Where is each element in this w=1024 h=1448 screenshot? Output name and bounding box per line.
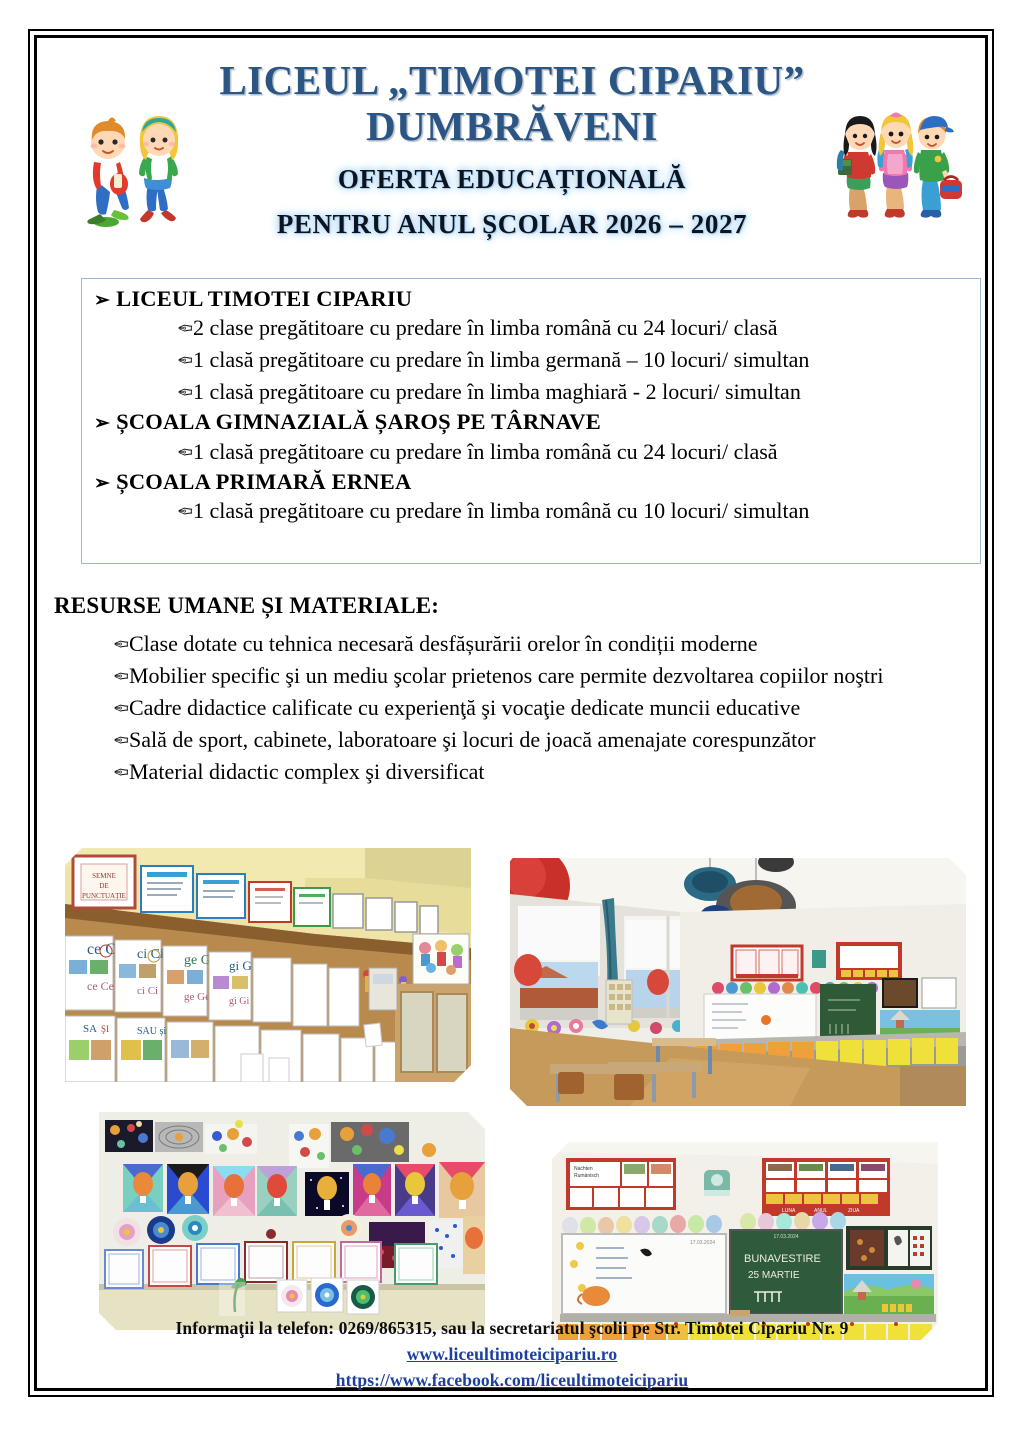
poster-header: LICEUL „TIMOTEI CIPARIU” DUMBRĂVENI OFER… (40, 40, 984, 268)
photo-whiteboard-blackboard: Nachten Rumänisch (545, 1135, 945, 1347)
class-item: ✑ 1 clasă pregătitoare cu predare în lim… (157, 376, 970, 408)
resource-item-text: Material didactic complex şi diversifica… (129, 760, 485, 783)
pen-bullet-icon: ✑ (72, 700, 129, 720)
svg-text:Nachten: Nachten (574, 1166, 593, 1172)
resources-list: ✑ Clase dotate cu tehnica necesară desfă… (72, 628, 982, 788)
footer-contact: Informaţii la telefon: 0269/865315, sau … (40, 1318, 984, 1391)
svg-text:25 MARTIE: 25 MARTIE (748, 1270, 800, 1281)
class-item-text: 1 clasă pregătitoare cu predare în limba… (193, 381, 801, 403)
photo-classroom-wall-posters: SEMNE DE PUNCTUAȚIE (58, 841, 478, 1089)
class-item-text: 1 clasă pregătitoare cu predare în limba… (193, 349, 809, 371)
class-item: ✑ 2 clase pregătitoare cu predare în lim… (157, 312, 970, 344)
class-item-text: 1 clasă pregătitoare cu predare în limba… (193, 500, 809, 522)
class-item-text: 1 clasă pregătitoare cu predare în limba… (193, 441, 778, 463)
resource-item: ✑ Cadre didactice calificate cu experien… (72, 692, 982, 724)
resource-item: ✑ Sală de sport, cabinete, laboratoare ş… (72, 724, 982, 756)
photo-student-artwork-wall (92, 1105, 492, 1337)
pen-bullet-icon: ✑ (157, 384, 193, 403)
school-heading: ➢ ȘCOALA GIMNAZIALĂ ȘAROȘ PE TÂRNAVE (94, 408, 970, 435)
svg-text:ci Ci: ci Ci (137, 985, 158, 997)
resource-item: ✑ Material didactic complex şi diversifi… (72, 756, 982, 788)
two-school-children-clipart (70, 110, 198, 228)
pen-bullet-icon: ✑ (157, 320, 193, 339)
pen-bullet-icon: ✑ (72, 668, 129, 688)
svg-text:PUNCTUAȚIE: PUNCTUAȚIE (82, 892, 126, 900)
class-item: ✑ 1 clasă pregătitoare cu predare în lim… (157, 495, 970, 527)
arrow-bullet-icon: ➢ (94, 474, 110, 493)
school-heading: ➢ ȘCOALA PRIMARĂ ERNEA (94, 468, 970, 495)
offer-box: ➢ LICEUL TIMOTEI CIPARIU ✑ 2 clase pregă… (81, 278, 981, 564)
resource-item-text: Cadre didactice calificate cu experienţă… (129, 696, 800, 719)
svg-text:SA: SA (83, 1023, 97, 1035)
resource-item-text: Mobilier specific şi un mediu şcolar pri… (129, 664, 883, 687)
resource-item-text: Clase dotate cu tehnica necesară desfășu… (129, 632, 758, 655)
class-item: ✑ 1 clasă pregătitoare cu predare în lim… (157, 436, 970, 468)
class-item: ✑ 1 clasă pregătitoare cu predare în lim… (157, 344, 970, 376)
svg-text:DE: DE (99, 882, 108, 890)
resources-title: RESURSE UMANE ȘI MATERIALE: (54, 593, 439, 619)
svg-text:gi Gi: gi Gi (229, 958, 256, 973)
footer-phone-address: Informaţii la telefon: 0269/865315, sau … (40, 1318, 984, 1339)
school-name: ȘCOALA GIMNAZIALĂ ȘAROȘ PE TÂRNAVE (116, 408, 601, 435)
arrow-bullet-icon: ➢ (94, 414, 110, 433)
school-heading: ➢ LICEUL TIMOTEI CIPARIU (94, 285, 970, 312)
school-name: LICEUL TIMOTEI CIPARIU (116, 285, 412, 312)
resource-item-text: Sală de sport, cabinete, laboratoare şi … (129, 728, 816, 751)
pen-bullet-icon: ✑ (157, 503, 193, 522)
svg-text:BUNAVESTIRE: BUNAVESTIRE (744, 1253, 821, 1265)
svg-text:17.03.2024: 17.03.2024 (773, 1234, 798, 1240)
photo-gallery: SEMNE DE PUNCTUAȚIE (40, 785, 984, 1305)
svg-text:17.03.2024: 17.03.2024 (690, 1240, 715, 1246)
website-link[interactable]: www.liceultimoteicipariu.ro (40, 1344, 984, 1365)
svg-text:ce Ce: ce Ce (87, 979, 114, 993)
poster-content: LICEUL „TIMOTEI CIPARIU” DUMBRĂVENI OFER… (40, 40, 984, 1388)
three-school-children-clipart (836, 112, 976, 222)
title-line-1: LICEUL „TIMOTEI CIPARIU” (219, 57, 804, 103)
facebook-link[interactable]: https://www.facebook.com/liceultimoteici… (40, 1370, 984, 1391)
svg-text:SEMNE: SEMNE (92, 872, 116, 880)
svg-text:ge Ge: ge Ge (184, 991, 210, 1003)
svg-text:Rumänisch: Rumänisch (574, 1173, 599, 1179)
svg-text:ZIUA: ZIUA (848, 1208, 860, 1214)
pen-bullet-icon: ✑ (72, 764, 129, 784)
resource-item: ✑ Clase dotate cu tehnica necesară desfă… (72, 628, 982, 660)
resource-item: ✑ Mobilier specific şi un mediu şcolar p… (72, 660, 982, 692)
class-item-text: 2 clase pregătitoare cu predare în limba… (193, 317, 778, 339)
arrow-bullet-icon: ➢ (94, 291, 110, 310)
pen-bullet-icon: ✑ (157, 444, 193, 463)
svg-text:gi Gi: gi Gi (229, 996, 250, 1007)
svg-text:ŞI: ŞI (101, 1024, 109, 1034)
pen-bullet-icon: ✑ (157, 352, 193, 371)
school-name: ȘCOALA PRIMARĂ ERNEA (116, 468, 411, 495)
pen-bullet-icon: ✑ (72, 732, 129, 752)
photo-classroom-windows (503, 851, 973, 1113)
pen-bullet-icon: ✑ (72, 636, 129, 656)
